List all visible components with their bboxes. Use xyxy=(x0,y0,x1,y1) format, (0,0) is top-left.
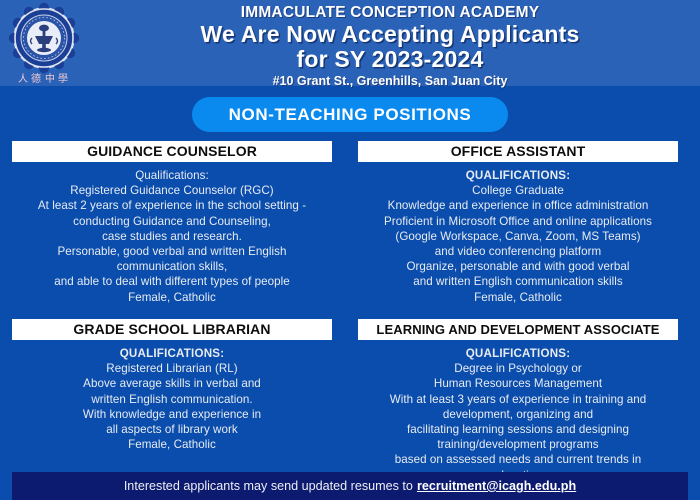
footer-text: Interested applicants may send updated r… xyxy=(124,479,413,493)
qualification-line: Female, Catholic xyxy=(12,290,332,305)
qualification-line: College Graduate xyxy=(358,183,678,198)
job-card-office-assistant: OFFICE ASSISTANT QUALIFICATIONS: College… xyxy=(358,141,678,305)
svg-text:中: 中 xyxy=(45,72,55,85)
poster-header: 人 德 中 學 IMMACULATE CONCEPTION ACADEMY We… xyxy=(0,0,700,86)
qualification-line: Above average skills in verbal and xyxy=(12,376,332,391)
school-address: #10 Grant St., Greenhills, San Juan City xyxy=(90,73,690,90)
section-banner-label: NON-TEACHING POSITIONS xyxy=(229,105,472,125)
qualification-line: Female, Catholic xyxy=(12,437,332,452)
qualification-line: With knowledge and experience in xyxy=(12,407,332,422)
job-title: OFFICE ASSISTANT xyxy=(358,141,678,162)
svg-text:德: 德 xyxy=(31,72,41,85)
job-qualifications: QUALIFICATIONS: College Graduate Knowled… xyxy=(358,162,678,305)
job-qualifications: Qualifications: Registered Guidance Coun… xyxy=(12,162,332,305)
qualifications-label: QUALIFICATIONS: xyxy=(358,168,678,183)
job-card-guidance-counselor: GUIDANCE COUNSELOR Qualifications: Regis… xyxy=(12,141,332,305)
qualification-line: Organize, personable and with good verba… xyxy=(358,259,678,274)
poster-footer: Interested applicants may send updated r… xyxy=(12,472,688,500)
svg-text:學: 學 xyxy=(58,72,68,85)
job-qualifications: QUALIFICATIONS: Registered Librarian (RL… xyxy=(12,340,332,452)
organization-name: IMMACULATE CONCEPTION ACADEMY xyxy=(90,3,690,22)
qualification-line: Degree in Psychology or xyxy=(358,361,678,376)
svg-text:人: 人 xyxy=(18,73,28,85)
recruitment-poster: 人 德 中 學 IMMACULATE CONCEPTION ACADEMY We… xyxy=(0,0,700,500)
qualification-line: and written English communication skills xyxy=(358,274,678,289)
qualification-line: based on assessed needs and current tren… xyxy=(358,452,678,467)
job-title: LEARNING AND DEVELOPMENT ASSOCIATE xyxy=(358,319,678,340)
qualification-line: Registered Librarian (RL) xyxy=(12,361,332,376)
recruitment-email-link[interactable]: recruitment@icagh.edu.ph xyxy=(417,479,576,493)
job-title: GRADE SCHOOL LIBRARIAN xyxy=(12,319,332,340)
header-text-block: IMMACULATE CONCEPTION ACADEMY We Are Now… xyxy=(90,3,690,90)
qualifications-label: Qualifications: xyxy=(12,168,332,183)
section-banner-non-teaching-positions: NON-TEACHING POSITIONS xyxy=(192,97,508,132)
job-title: GUIDANCE COUNSELOR xyxy=(12,141,332,162)
qualification-line: and able to deal with different types of… xyxy=(12,274,332,289)
qualification-line: written English communication. xyxy=(12,392,332,407)
job-card-learning-and-development-associate: LEARNING AND DEVELOPMENT ASSOCIATE QUALI… xyxy=(358,319,678,483)
qualification-line: (Google Workspace, Canva, Zoom, MS Teams… xyxy=(358,229,678,244)
qualifications-label: QUALIFICATIONS: xyxy=(12,346,332,361)
qualifications-label: QUALIFICATIONS: xyxy=(358,346,678,361)
qualification-line: case studies and research. xyxy=(12,229,332,244)
qualification-line: Human Resources Management xyxy=(358,376,678,391)
qualification-line: all aspects of library work xyxy=(12,422,332,437)
seal-icon: 人 德 中 學 xyxy=(9,3,79,85)
qualification-line: With at least 3 years of experience in t… xyxy=(358,392,678,407)
qualification-line: facilitating learning sessions and desig… xyxy=(358,422,678,437)
qualification-line: training/development programs xyxy=(358,437,678,452)
job-card-grade-school-librarian: GRADE SCHOOL LIBRARIAN QUALIFICATIONS: R… xyxy=(12,319,332,452)
qualification-line: Female, Catholic xyxy=(358,290,678,305)
qualification-line: Proficient in Microsoft Office and onlin… xyxy=(358,214,678,229)
qualification-line: and video conferencing platform xyxy=(358,244,678,259)
job-qualifications: QUALIFICATIONS: Degree in Psychology or … xyxy=(358,340,678,483)
qualification-line: At least 2 years of experience in the sc… xyxy=(12,198,332,213)
qualification-line: development, organizing and xyxy=(358,407,678,422)
school-logo: 人 德 中 學 xyxy=(8,2,80,86)
qualification-line: Registered Guidance Counselor (RGC) xyxy=(12,183,332,198)
headline-line-1: We Are Now Accepting Applicants xyxy=(90,22,690,47)
qualification-line: conducting Guidance and Counseling, xyxy=(12,214,332,229)
qualification-line: Personable, good verbal and written Engl… xyxy=(12,244,332,259)
headline-line-2: for SY 2023-2024 xyxy=(90,47,690,72)
qualification-line: communication skills, xyxy=(12,259,332,274)
qualification-line: Knowledge and experience in office admin… xyxy=(358,198,678,213)
